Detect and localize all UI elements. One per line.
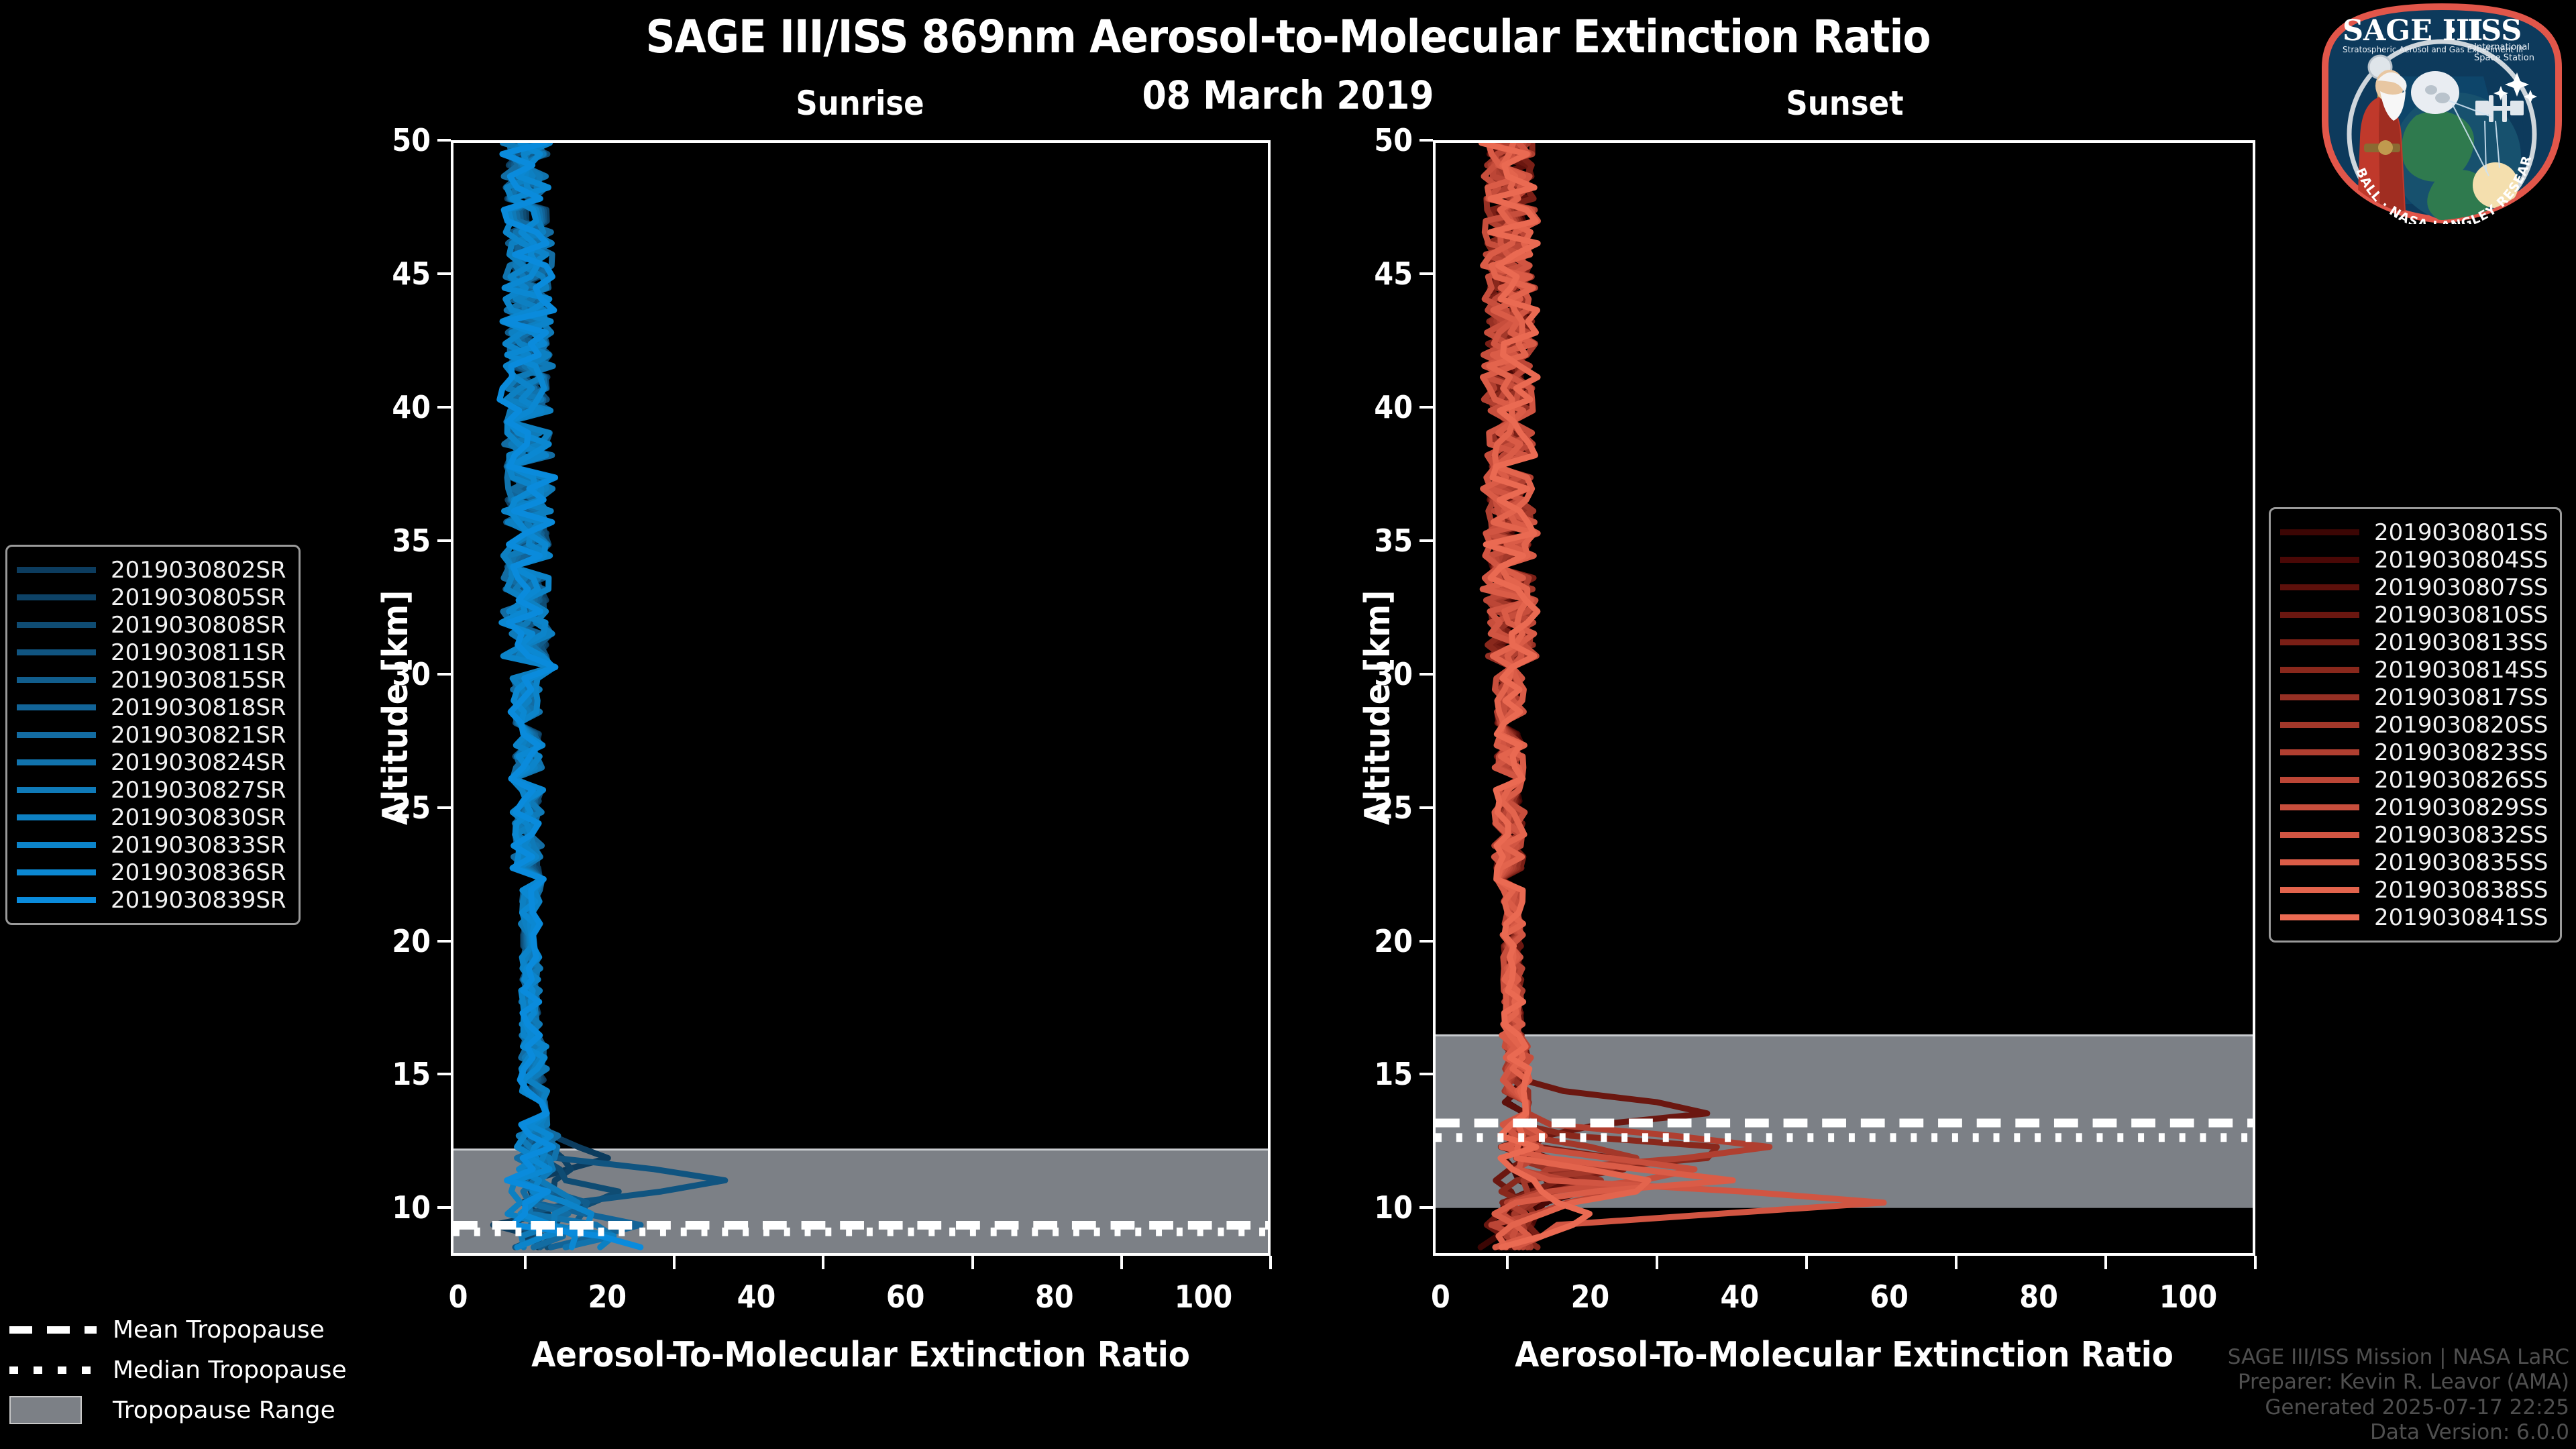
legend-color-swatch: [2280, 529, 2359, 535]
legend-item[interactable]: 2019030826SS: [2280, 766, 2548, 794]
legend-color-swatch: [2280, 777, 2359, 783]
panel-title-sunset: Sunset: [1637, 84, 2053, 123]
credit-version: Data Version: 6.0.0: [2228, 1420, 2569, 1445]
legend-label: 2019030830SR: [111, 804, 286, 831]
legend-item[interactable]: 2019030804SS: [2280, 546, 2548, 574]
legend-color-swatch: [2280, 722, 2359, 728]
page-subtitle-date: 08 March 2019: [0, 72, 2576, 118]
legend-label: 2019030805SR: [111, 584, 286, 611]
legend-color-swatch: [2280, 612, 2359, 618]
legend-color-swatch: [2280, 914, 2359, 920]
dashed-line-icon: [9, 1322, 97, 1337]
y-tick-mark: [437, 673, 451, 676]
legend-label: 2019030818SR: [111, 694, 286, 721]
legend-label: 2019030810SS: [2374, 602, 2548, 629]
y-tick-label-20: 20: [350, 923, 431, 959]
legend-color-swatch: [17, 677, 96, 683]
x-tick-label-80: 80: [987, 1279, 1122, 1315]
sage-iii-iss-logo: SAGE III · ISS Stratospheric Aerosol and…: [2316, 3, 2568, 224]
y-tick-mark: [437, 1073, 451, 1075]
legend-color-swatch: [2280, 584, 2359, 590]
legend-color-swatch: [17, 622, 96, 628]
legend-item[interactable]: 2019030827SR: [17, 776, 286, 804]
x-tick-label-100: 100: [2121, 1279, 2255, 1315]
tropopause-key-mean: Mean Tropopause: [9, 1309, 425, 1350]
legend-label: 2019030832SS: [2374, 822, 2548, 849]
tropopause-range-label: Tropopause Range: [113, 1397, 335, 1424]
legend-label: 2019030808SR: [111, 612, 286, 639]
y-tick-mark: [1419, 539, 1433, 542]
legend-item[interactable]: 2019030802SR: [17, 556, 286, 584]
legend-color-swatch: [2280, 832, 2359, 838]
legend-item[interactable]: 2019030824SR: [17, 749, 286, 776]
y-tick-mark: [1419, 406, 1433, 409]
panel-title-sunrise: Sunrise: [652, 84, 1068, 123]
y-tick-mark: [437, 272, 451, 275]
y-tick-label-40: 40: [350, 389, 431, 425]
legend-item[interactable]: 2019030817SS: [2280, 684, 2548, 711]
legend-item[interactable]: 2019030823SS: [2280, 739, 2548, 766]
x-tick-mark: [1955, 1256, 1957, 1269]
gray-band-icon: [9, 1403, 97, 1417]
tropopause-key-median: Median Tropopause: [9, 1350, 425, 1390]
legend-item[interactable]: 2019030833SR: [17, 831, 286, 859]
y-tick-mark: [1419, 806, 1433, 809]
y-tick-mark: [437, 539, 451, 542]
legend-item[interactable]: 2019030820SS: [2280, 711, 2548, 739]
x-tick-mark: [2104, 1256, 2107, 1269]
legend-item[interactable]: 2019030830SR: [17, 804, 286, 831]
legend-sunrise[interactable]: 2019030802SR2019030805SR2019030808SR2019…: [5, 545, 301, 925]
x-tick-mark: [673, 1256, 676, 1269]
legend-item[interactable]: 2019030821SR: [17, 721, 286, 749]
legend-color-swatch: [2280, 639, 2359, 645]
credit-mission: SAGE III/ISS Mission | NASA LaRC: [2228, 1345, 2569, 1370]
legend-label: 2019030835SS: [2374, 849, 2548, 876]
x-tick-label-40: 40: [1672, 1279, 1807, 1315]
legend-color-swatch: [2280, 749, 2359, 755]
legend-color-swatch: [2280, 557, 2359, 563]
legend-color-swatch: [17, 704, 96, 710]
y-tick-label-10: 10: [350, 1189, 431, 1226]
x-tick-mark: [971, 1256, 974, 1269]
legend-item[interactable]: 2019030808SR: [17, 611, 286, 639]
legend-item[interactable]: 2019030810SS: [2280, 601, 2548, 629]
legend-label: 2019030833SR: [111, 832, 286, 859]
x-tick-label-60: 60: [1822, 1279, 1956, 1315]
legend-color-swatch: [17, 897, 96, 903]
y-tick-mark: [1419, 139, 1433, 142]
legend-label: 2019030826SS: [2374, 767, 2548, 794]
y-tick-label-50: 50: [350, 122, 431, 158]
legend-label: 2019030827SR: [111, 777, 286, 804]
y-tick-label-15: 15: [1332, 1056, 1413, 1092]
y-tick-mark: [437, 940, 451, 943]
legend-label: 2019030814SS: [2374, 657, 2548, 684]
legend-label: 2019030821SR: [111, 722, 286, 749]
y-tick-label-45: 45: [1332, 256, 1413, 292]
credits-block: SAGE III/ISS Mission | NASA LaRC Prepare…: [2228, 1345, 2569, 1445]
x-tick-label-0: 0: [1373, 1279, 1507, 1315]
legend-color-swatch: [17, 814, 96, 820]
x-tick-label-20: 20: [1523, 1279, 1657, 1315]
x-tick-mark: [524, 1256, 527, 1269]
credit-preparer: Preparer: Kevin R. Leavor (AMA): [2228, 1370, 2569, 1395]
x-tick-label-100: 100: [1136, 1279, 1271, 1315]
x-tick-mark: [1269, 1256, 1272, 1269]
legend-color-swatch: [17, 869, 96, 875]
y-tick-label-20: 20: [1332, 923, 1413, 959]
svg-text:SAGE III: SAGE III: [2343, 14, 2483, 48]
y-tick-label-35: 35: [1332, 523, 1413, 559]
legend-color-swatch: [2280, 667, 2359, 673]
legend-item[interactable]: 2019030807SS: [2280, 574, 2548, 601]
legend-item[interactable]: 2019030815SR: [17, 666, 286, 694]
legend-color-swatch: [17, 649, 96, 655]
legend-item[interactable]: 2019030841SS: [2280, 904, 2548, 931]
x-tick-label-60: 60: [839, 1279, 973, 1315]
legend-item[interactable]: 2019030805SR: [17, 584, 286, 611]
legend-label: 2019030823SS: [2374, 739, 2548, 766]
y-tick-label-45: 45: [350, 256, 431, 292]
legend-item[interactable]: 2019030813SS: [2280, 629, 2548, 656]
x-axis-label-sunrise: Aerosol-To-Molecular Extinction Ratio: [451, 1335, 1271, 1375]
y-tick-label-15: 15: [350, 1056, 431, 1092]
y-tick-mark: [437, 139, 451, 142]
y-tick-mark: [1419, 272, 1433, 275]
legend-label: 2019030807SS: [2374, 574, 2548, 601]
x-tick-label-40: 40: [689, 1279, 823, 1315]
legend-color-swatch: [2280, 887, 2359, 893]
legend-item[interactable]: 2019030838SS: [2280, 876, 2548, 904]
y-tick-mark: [1419, 1073, 1433, 1075]
legend-label: 2019030820SS: [2374, 712, 2548, 739]
plot-area-sunset[interactable]: [1433, 140, 2255, 1256]
plot-area-sunrise[interactable]: [451, 140, 1271, 1256]
legend-label: 2019030824SR: [111, 749, 286, 776]
x-tick-mark: [1656, 1256, 1658, 1269]
x-tick-mark: [1120, 1256, 1123, 1269]
legend-item[interactable]: 2019030832SS: [2280, 821, 2548, 849]
x-tick-mark: [1506, 1256, 1509, 1269]
x-tick-mark: [1805, 1256, 1808, 1269]
y-tick-label-10: 10: [1332, 1189, 1413, 1226]
dotted-line-icon: [9, 1362, 97, 1377]
x-tick-label-20: 20: [540, 1279, 674, 1315]
legend-item[interactable]: 2019030811SR: [17, 639, 286, 666]
legend-color-swatch: [17, 787, 96, 793]
legend-color-swatch: [17, 759, 96, 765]
legend-color-swatch: [17, 567, 96, 573]
x-axis-label-sunset: Aerosol-To-Molecular Extinction Ratio: [1433, 1335, 2255, 1375]
legend-item[interactable]: 2019030814SS: [2280, 656, 2548, 684]
tropopause-mean-label: Mean Tropopause: [113, 1316, 325, 1344]
legend-label: 2019030838SS: [2374, 877, 2548, 904]
y-tick-mark: [437, 406, 451, 409]
legend-sunset[interactable]: 2019030801SS2019030804SS2019030807SS2019…: [2269, 507, 2562, 943]
legend-item[interactable]: 2019030818SR: [17, 694, 286, 721]
legend-item[interactable]: 2019030839SR: [17, 886, 286, 914]
legend-item[interactable]: 2019030829SS: [2280, 794, 2548, 821]
legend-label: 2019030839SR: [111, 887, 286, 914]
y-tick-label-40: 40: [1332, 389, 1413, 425]
tropopause-key: Mean Tropopause Median Tropopause Tropop…: [9, 1309, 425, 1430]
legend-label: 2019030836SR: [111, 859, 286, 886]
legend-label: 2019030802SR: [111, 557, 286, 584]
y-tick-label-35: 35: [350, 523, 431, 559]
y-tick-mark: [1419, 1206, 1433, 1209]
tropopause-key-range: Tropopause Range: [9, 1390, 425, 1430]
credit-generated: Generated 2025-07-17 22:25: [2228, 1395, 2569, 1420]
legend-label: 2019030817SS: [2374, 684, 2548, 711]
legend-item[interactable]: 2019030836SR: [17, 859, 286, 886]
legend-color-swatch: [17, 842, 96, 848]
legend-item[interactable]: 2019030801SS: [2280, 519, 2548, 546]
page-title: SAGE III/ISS 869nm Aerosol-to-Molecular …: [0, 11, 2576, 64]
legend-color-swatch: [17, 732, 96, 738]
y-tick-mark: [437, 806, 451, 809]
legend-color-swatch: [2280, 694, 2359, 700]
legend-label: 2019030804SS: [2374, 547, 2548, 574]
legend-item[interactable]: 2019030835SS: [2280, 849, 2548, 876]
y-tick-mark: [437, 1206, 451, 1209]
legend-label: 2019030841SS: [2374, 904, 2548, 931]
y-tick-label-50: 50: [1332, 122, 1413, 158]
y-axis-label-sunset: Altitude [km]: [1358, 590, 1398, 825]
svg-text:·: ·: [2447, 14, 2457, 48]
legend-color-swatch: [2280, 804, 2359, 810]
y-tick-mark: [1419, 940, 1433, 943]
svg-text:International: International: [2474, 42, 2530, 52]
y-axis-label-sunrise: Altitude [km]: [376, 590, 416, 825]
x-tick-mark: [822, 1256, 824, 1269]
legend-label: 2019030811SR: [111, 639, 286, 666]
legend-label: 2019030829SS: [2374, 794, 2548, 821]
y-tick-mark: [1419, 673, 1433, 676]
legend-label: 2019030815SR: [111, 667, 286, 694]
svg-text:Space Station: Space Station: [2474, 53, 2534, 63]
x-tick-label-80: 80: [1972, 1279, 2106, 1315]
legend-label: 2019030801SS: [2374, 519, 2548, 546]
legend-color-swatch: [2280, 859, 2359, 865]
x-tick-mark: [2254, 1256, 2257, 1269]
legend-label: 2019030813SS: [2374, 629, 2548, 656]
legend-color-swatch: [17, 594, 96, 600]
tropopause-median-label: Median Tropopause: [113, 1356, 347, 1384]
